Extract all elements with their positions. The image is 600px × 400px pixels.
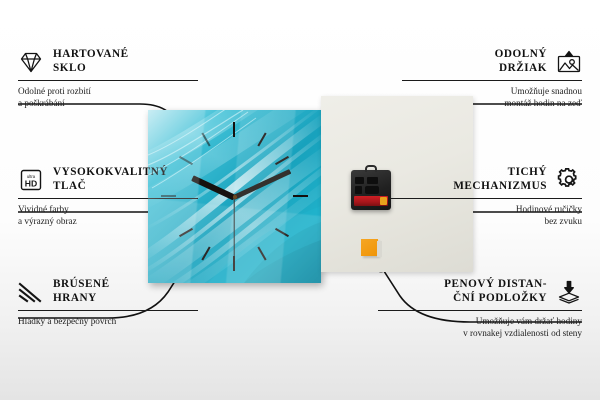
mechanism-detail-2 [367,177,378,184]
feature-tempered-glass: HARTOVANÉ SKLO Odolné proti rozbití a po… [18,48,198,109]
clock-tick-12 [233,122,235,137]
mechanism-battery [354,196,388,206]
gear-icon [556,168,582,192]
feature-divider [378,310,582,311]
feature-subtitle: Vividné farby a výrazný obraz [18,204,198,227]
infographic-canvas: HARTOVANÉ SKLO Odolné proti rozbití a po… [0,0,600,400]
feature-durable-holder: ODOLNÝ DRŽIAK Umožňuje snadnou montáž ho… [402,48,582,109]
feature-title: HARTOVANÉ SKLO [53,48,129,75]
mechanism-detail-3 [355,186,362,194]
feature-subtitle: Odolné proti rozbití a poškrábání [18,86,198,109]
feature-divider [402,80,582,81]
feature-ground-edges: BRÚSENÉ HRANY Hladký a bezpečný povrch [18,278,198,328]
diamond-icon [18,50,44,74]
feature-title: VYSOKOKVALITNÝ TLAČ [53,166,168,193]
battery-positive-terminal [380,197,387,205]
feature-divider [18,198,198,199]
feature-title: TICHÝ MECHANIZMUS [453,166,547,193]
clock-tick-3 [293,195,308,197]
feature-title: BRÚSENÉ HRANY [53,278,110,305]
feature-subtitle: Umožňuje snadnou montáž hodin na zeď [402,86,582,109]
clock-second-hand [233,197,234,259]
foam-spacer-pad [361,239,378,256]
clock-mechanism-body [351,170,391,210]
feature-divider [390,198,582,199]
clock-center-pivot [233,195,237,199]
feature-header: HARTOVANÉ SKLO [18,48,198,75]
feature-title: PENOVÝ DISTAN- ČNÍ PODLOŽKY [444,278,547,305]
press-down-layers-icon [556,280,582,304]
feature-header: ultra HD VYSOKOKVALITNÝ TLAČ [18,166,198,193]
diagonal-lines-icon [18,280,44,304]
feature-subtitle: Hodinové ručičky bez zvuku [390,204,582,227]
feature-header: TICHÝ MECHANIZMUS [390,166,582,193]
mechanism-hanger-icon [365,165,377,172]
feature-silent-mechanism: TICHÝ MECHANIZMUS Hodinové ručičky bez z… [390,166,582,227]
picture-frame-icon [556,50,582,74]
feature-header: BRÚSENÉ HRANY [18,278,198,305]
svg-text:HD: HD [25,178,37,188]
mechanism-detail-4 [365,186,379,194]
feature-title: ODOLNÝ DRŽIAK [495,48,547,75]
feature-subtitle: Hladký a bezpečný povrch [18,316,198,328]
feature-header: ODOLNÝ DRŽIAK [402,48,582,75]
feature-divider [18,80,198,81]
feature-foam-spacers: PENOVÝ DISTAN- ČNÍ PODLOŽKY Umožňuje vám… [378,278,582,339]
feature-header: PENOVÝ DISTAN- ČNÍ PODLOŽKY [378,278,582,305]
feature-divider [18,310,198,311]
ultra-hd-icon: ultra HD [18,168,44,192]
mechanism-detail-1 [355,177,364,184]
feature-subtitle: Umožňuje vám držať hodiny v rovnakej vzd… [378,316,582,339]
feature-hq-print: ultra HD VYSOKOKVALITNÝ TLAČ Vividné far… [18,166,198,227]
